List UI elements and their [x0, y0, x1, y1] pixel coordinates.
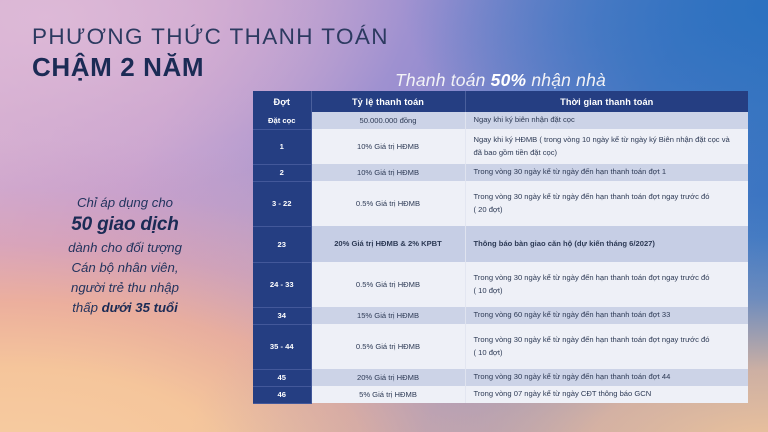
table-row: 210% Giá trị HĐMBTrong vòng 30 ngày kể t… — [253, 164, 748, 181]
cell-rate: 20% Giá trị HĐMB — [311, 369, 465, 386]
cell-rate: 0.5% Giá trị HĐMB — [311, 324, 465, 369]
table-row: 3 - 220.5% Giá trị HĐMBTrong vòng 30 ngà… — [253, 181, 748, 226]
table-caption: Thanh toán 50% nhận nhà — [253, 70, 748, 91]
table-row: 35 - 440.5% Giá trị HĐMBTrong vòng 30 ng… — [253, 324, 748, 369]
cell-rate: 0.5% Giá trị HĐMB — [311, 181, 465, 226]
cell-time: Trong vòng 30 ngày kể từ ngày đến hạn th… — [465, 324, 748, 369]
column-header-phase: Đợt — [253, 91, 311, 112]
cell-phase: 34 — [253, 307, 311, 324]
cell-phase: Đặt cọc — [253, 112, 311, 129]
table-body: Đặt cọc50.000.000 đồngNgay khi ký biên n… — [253, 112, 748, 403]
cell-time: Trong vòng 30 ngày kể từ ngày đến hạn th… — [465, 262, 748, 307]
cell-time: Trong vòng 30 ngày kể từ ngày đến hạn th… — [465, 181, 748, 226]
title-line-1: PHƯƠNG THỨC THANH TOÁN — [32, 24, 389, 51]
cell-phase: 35 - 44 — [253, 324, 311, 369]
caption-percent: 50% — [491, 70, 527, 90]
cell-rate: 50.000.000 đồng — [311, 112, 465, 129]
table-row: 2320% Giá trị HĐMB & 2% KPBTThông báo bà… — [253, 226, 748, 262]
cell-time: Ngay khi ký HĐMB ( trong vòng 10 ngày kể… — [465, 129, 748, 164]
cell-phase: 1 — [253, 129, 311, 164]
cell-rate: 15% Giá trị HĐMB — [311, 307, 465, 324]
table-row: 4520% Giá trị HĐMBTrong vòng 30 ngày kể … — [253, 369, 748, 386]
cell-time: Ngay khi ký biên nhận đặt cọc — [465, 112, 748, 129]
caption-prefix: Thanh toán — [395, 70, 491, 90]
promo-line-3: Cán bộ nhân viên, — [71, 260, 178, 275]
cell-phase: 2 — [253, 164, 311, 181]
payment-schedule-table: Đợt Tỷ lệ thanh toán Thời gian thanh toá… — [253, 91, 748, 404]
promo-line-5-bold: dưới 35 tuổi — [102, 300, 178, 315]
table-row: 110% Giá trị HĐMBNgay khi ký HĐMB ( tron… — [253, 129, 748, 164]
cell-time: Thông báo bàn giao căn hộ (dự kiến tháng… — [465, 226, 748, 262]
cell-time: Trong vòng 60 ngày kể từ ngày đến hạn th… — [465, 307, 748, 324]
cell-phase: 46 — [253, 386, 311, 403]
table-row: 465% Giá trị HĐMBTrong vòng 07 ngày kể t… — [253, 386, 748, 403]
promo-note: Chỉ áp dụng cho 50 giao dịch dành cho đố… — [30, 193, 220, 318]
cell-rate: 10% Giá trị HĐMB — [311, 164, 465, 181]
column-header-time: Thời gian thanh toán — [465, 91, 748, 112]
promo-line-4: người trẻ thu nhập — [71, 280, 179, 295]
cell-time: Trong vòng 30 ngày kể từ ngày đến hạn th… — [465, 164, 748, 181]
promo-line-2: dành cho đối tượng — [68, 240, 182, 255]
cell-phase: 3 - 22 — [253, 181, 311, 226]
promo-line-1: Chỉ áp dụng cho — [77, 195, 173, 210]
promo-highlight: 50 giao dịch — [30, 213, 220, 238]
cell-phase: 45 — [253, 369, 311, 386]
cell-phase: 24 - 33 — [253, 262, 311, 307]
cell-rate: 20% Giá trị HĐMB & 2% KPBT — [311, 226, 465, 262]
caption-suffix: nhận nhà — [526, 70, 606, 90]
cell-rate: 5% Giá trị HĐMB — [311, 386, 465, 403]
table-header-row: Đợt Tỷ lệ thanh toán Thời gian thanh toá… — [253, 91, 748, 112]
column-header-rate: Tỷ lệ thanh toán — [311, 91, 465, 112]
cell-rate: 0.5% Giá trị HĐMB — [311, 262, 465, 307]
table-row: 3415% Giá trị HĐMBTrong vòng 60 ngày kể … — [253, 307, 748, 324]
cell-rate: 10% Giá trị HĐMB — [311, 129, 465, 164]
promo-line-5-prefix: thấp — [72, 300, 101, 315]
cell-time: Trong vòng 30 ngày kể từ ngày đến hạn th… — [465, 369, 748, 386]
cell-phase: 23 — [253, 226, 311, 262]
table-row: 24 - 330.5% Giá trị HĐMBTrong vòng 30 ng… — [253, 262, 748, 307]
cell-time: Trong vòng 07 ngày kể từ ngày CĐT thông … — [465, 386, 748, 403]
table-row: Đặt cọc50.000.000 đồngNgay khi ký biên n… — [253, 112, 748, 129]
